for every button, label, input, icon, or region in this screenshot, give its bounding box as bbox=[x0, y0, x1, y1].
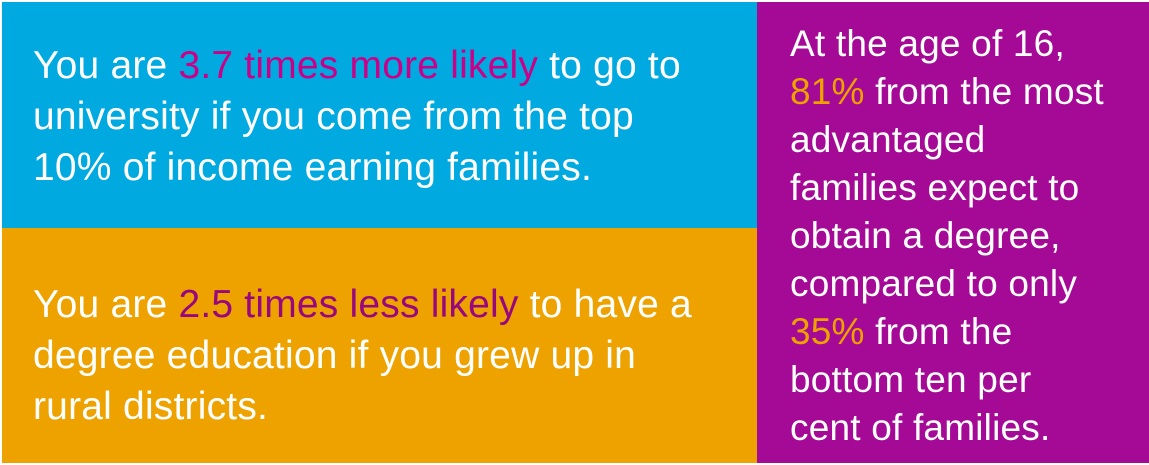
infographic-root: You are 3.7 times more likely to go toun… bbox=[0, 0, 1149, 465]
text-line: compared to only bbox=[790, 260, 1104, 308]
university-statistic-text: You are 3.7 times more likely to go toun… bbox=[33, 40, 681, 193]
highlighted-value: 2.5 times less likely bbox=[178, 283, 518, 326]
text-segment: from the most bbox=[865, 71, 1104, 112]
text-line: 81% from the most bbox=[790, 68, 1104, 116]
text-line: 35% from the bbox=[790, 308, 1104, 356]
text-segment: You are bbox=[33, 44, 178, 87]
text-segment: to have a bbox=[519, 283, 692, 326]
text-line: You are 3.7 times more likely to go to bbox=[33, 40, 681, 91]
text-segment: cent of families. bbox=[790, 407, 1050, 448]
panel-degree-expectation: At the age of 16,81% from the mostadvant… bbox=[757, 2, 1149, 463]
text-line: You are 2.5 times less likely to have a bbox=[33, 279, 692, 330]
text-segment: bottom ten per bbox=[790, 359, 1031, 400]
rural-statistic-text: You are 2.5 times less likely to have ad… bbox=[33, 279, 692, 432]
text-segment: 10% of income earning families. bbox=[33, 146, 592, 189]
text-line: rural districts. bbox=[33, 381, 692, 432]
panel-rural-degree: You are 2.5 times less likely to have ad… bbox=[2, 228, 757, 463]
text-line: At the age of 16, bbox=[790, 20, 1104, 68]
text-segment: rural districts. bbox=[33, 385, 268, 428]
text-line: families expect to bbox=[790, 164, 1104, 212]
text-segment: university if you come from the top bbox=[33, 95, 634, 138]
text-segment: At the age of 16, bbox=[790, 23, 1065, 64]
text-segment: advantaged bbox=[790, 119, 985, 160]
highlighted-value: 81% bbox=[790, 71, 865, 112]
highlighted-value: 35% bbox=[790, 311, 865, 352]
text-segment: You are bbox=[33, 283, 178, 326]
text-segment: to go to bbox=[538, 44, 681, 87]
text-line: university if you come from the top bbox=[33, 91, 681, 142]
text-line: advantaged bbox=[790, 116, 1104, 164]
text-line: degree education if you grew up in bbox=[33, 330, 692, 381]
text-segment: obtain a degree, bbox=[790, 215, 1061, 256]
text-segment: from the bbox=[865, 311, 1013, 352]
text-segment: families expect to bbox=[790, 167, 1079, 208]
text-segment: degree education if you grew up in bbox=[33, 334, 636, 377]
text-segment: compared to only bbox=[790, 263, 1077, 304]
text-line: bottom ten per bbox=[790, 356, 1104, 404]
expectation-statistic-text: At the age of 16,81% from the mostadvant… bbox=[790, 20, 1104, 452]
text-line: cent of families. bbox=[790, 404, 1104, 452]
panel-university-access: You are 3.7 times more likely to go toun… bbox=[2, 2, 757, 228]
text-line: obtain a degree, bbox=[790, 212, 1104, 260]
highlighted-value: 3.7 times more likely bbox=[178, 44, 538, 87]
text-line: 10% of income earning families. bbox=[33, 142, 681, 193]
